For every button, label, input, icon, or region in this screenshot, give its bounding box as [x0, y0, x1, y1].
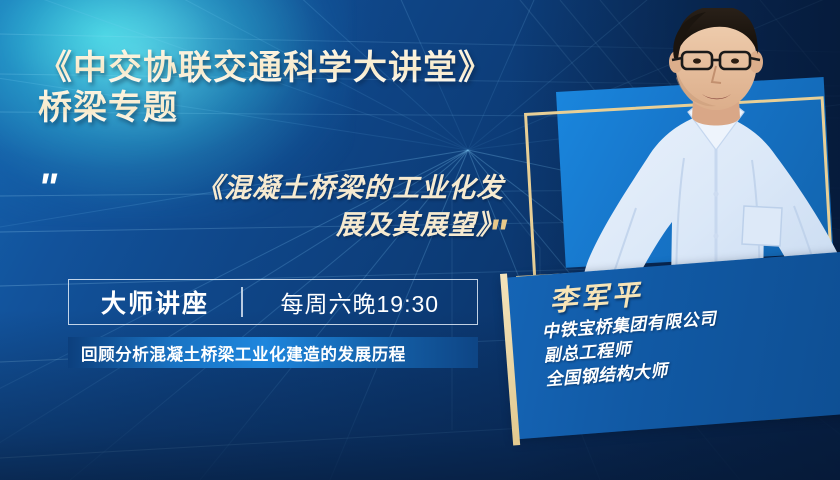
quote-line-2: 展及其展望》	[84, 207, 504, 244]
quote-close-mark: "	[488, 214, 504, 254]
subtitle-text: 回顾分析混凝土桥梁工业化建造的发展历程	[68, 341, 406, 365]
lecture-topic-quote: " 《混凝土桥梁的工业化发 展及其展望》 "	[36, 166, 536, 266]
subtitle-bar: 回顾分析混凝土桥梁工业化建造的发展历程	[68, 337, 478, 368]
schedule-box: 大师讲座 每周六晚19:30	[68, 279, 478, 325]
quote-open-mark: "	[38, 168, 54, 208]
poster-canvas: 李军平 中铁宝桥集团有限公司 副总工程师 全国钢结构大师 《中交协联交通科学大讲…	[0, 0, 840, 480]
title-line-1: 《中交协联交通科学大讲堂》	[38, 48, 538, 88]
schedule-time: 每周六晚19:30	[243, 285, 477, 319]
quote-line-1: 《混凝土桥梁的工业化发	[84, 170, 504, 207]
title-line-2: 桥梁专题	[38, 88, 538, 128]
quote-body: 《混凝土桥梁的工业化发 展及其展望》	[84, 170, 504, 245]
page-title: 《中交协联交通科学大讲堂》 桥梁专题	[38, 48, 538, 128]
schedule-label: 大师讲座	[69, 284, 241, 320]
